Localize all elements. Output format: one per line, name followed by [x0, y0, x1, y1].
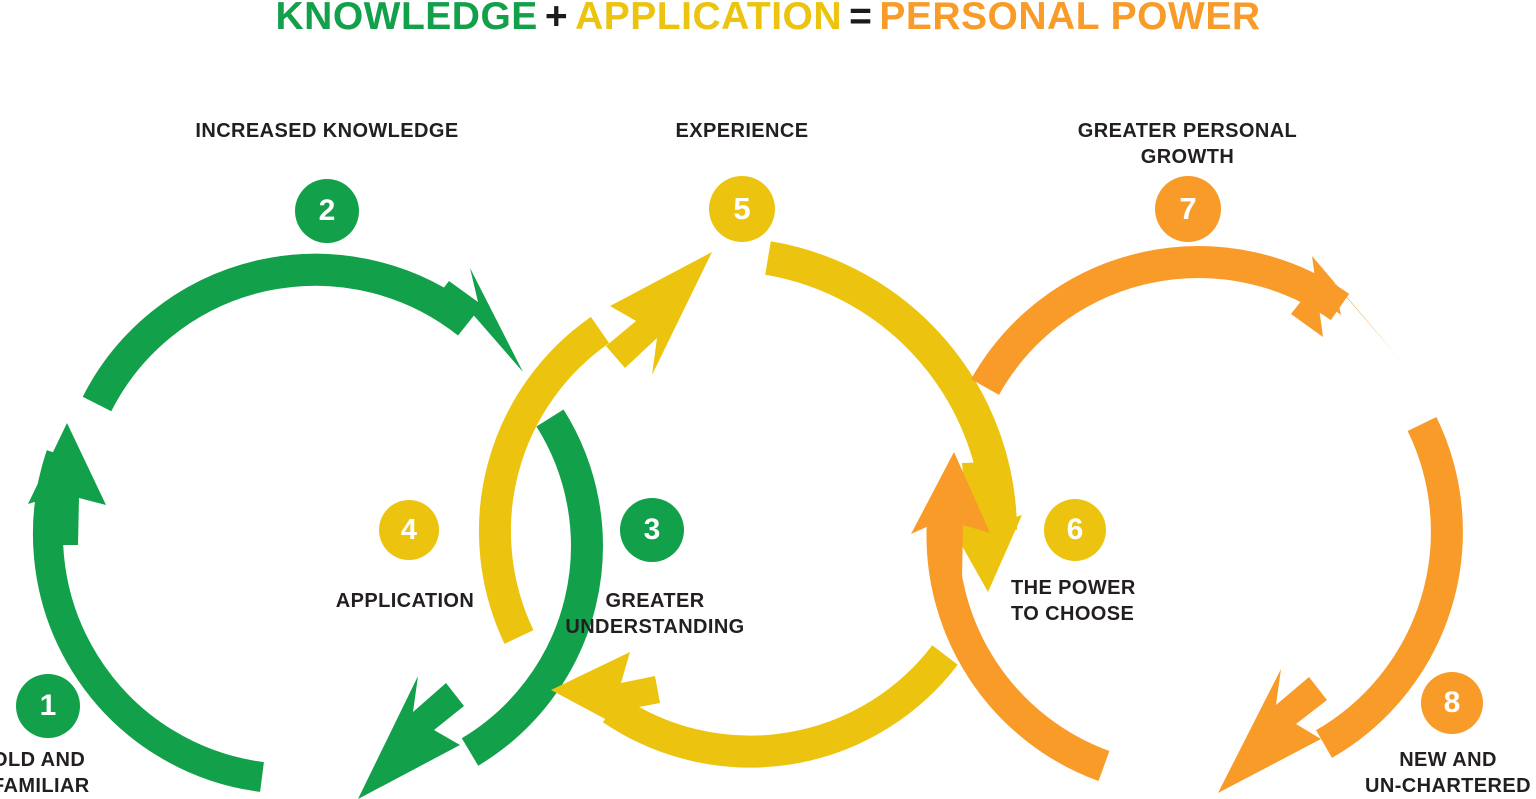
yellow-arc-descending — [768, 258, 1022, 592]
step-badge-3[interactable]: 3 — [620, 498, 684, 562]
diagram-canvas: KNOWLEDGE+APPLICATION=PERSONAL POWER — [0, 0, 1536, 799]
step-badge-5-number: 5 — [733, 191, 750, 227]
yellow-arc-ascending — [495, 252, 712, 637]
orange-arc-top — [985, 256, 1404, 387]
step-label-3: GREATER UNDERSTANDING — [500, 588, 810, 640]
step-badge-3-number: 3 — [644, 513, 661, 547]
step-badge-6[interactable]: 6 — [1044, 499, 1106, 561]
step-badge-4-number: 4 — [401, 514, 417, 547]
step-badge-2-number: 2 — [319, 194, 336, 228]
orange-arc-descending — [1218, 424, 1447, 793]
step-badge-1-number: 1 — [40, 689, 57, 723]
step-badge-7-number: 7 — [1179, 191, 1196, 227]
step-label-5: EXPERIENCE — [602, 118, 882, 144]
step-badge-4[interactable]: 4 — [379, 500, 439, 560]
step-badge-7[interactable]: 7 — [1155, 176, 1221, 242]
step-badge-6-number: 6 — [1067, 513, 1084, 547]
yellow-arc-bottom — [551, 652, 945, 752]
step-badge-2[interactable]: 2 — [295, 179, 359, 243]
step-badge-1[interactable]: 1 — [16, 674, 80, 738]
step-label-1: OLD AND FAMILIAR — [0, 747, 172, 799]
step-label-8: NEW AND UN-CHARTERED — [1348, 747, 1536, 799]
step-label-4: APPLICATION — [289, 588, 521, 614]
step-label-6: THE POWER TO CHOOSE — [1011, 575, 1231, 627]
step-badge-5[interactable]: 5 — [709, 176, 775, 242]
green-arc-top — [97, 268, 523, 404]
step-badge-8[interactable]: 8 — [1421, 672, 1483, 734]
step-badge-8-number: 8 — [1444, 686, 1461, 720]
step-label-7: GREATER PERSONAL GROWTH — [1015, 118, 1360, 170]
step-label-2: INCREASED KNOWLEDGE — [137, 118, 517, 144]
